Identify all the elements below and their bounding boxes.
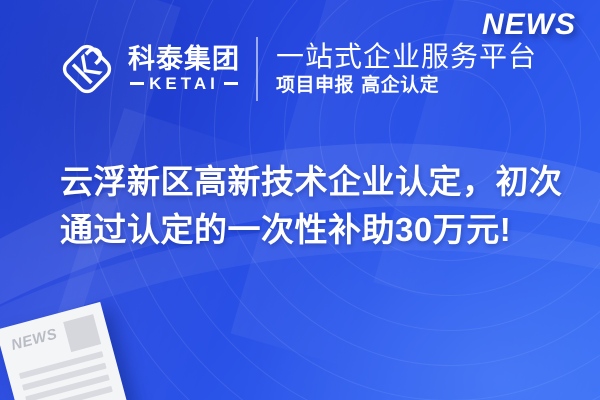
news-wordmark: NEWS: [482, 8, 576, 42]
brand-name-en-row: KETAI: [128, 75, 240, 92]
brand-rule-left: [130, 82, 144, 85]
newspaper-graphic: NEWS: [0, 302, 128, 400]
brand-lockup: 科泰集团 KETAI: [58, 40, 240, 98]
brand-name-cn: 科泰集团: [128, 46, 240, 73]
brand-rule-right: [224, 82, 238, 85]
brand-text-block: 科泰集团 KETAI: [128, 46, 240, 92]
tagline-block: 一站式企业服务平台 项目申报 高企认定: [276, 41, 537, 97]
newspaper-masthead: NEWS: [9, 324, 59, 353]
newspaper-sheet: NEWS: [0, 302, 128, 400]
brand-name-en: KETAI: [149, 75, 219, 92]
tagline-main: 一站式企业服务平台: [276, 41, 537, 72]
image-placeholder-icon: [63, 314, 101, 352]
headline-line-1: 云浮新区高新技术企业认定，初次: [60, 158, 560, 206]
ketai-kd-monogram-icon: [58, 40, 116, 98]
news-banner: 科泰集团 KETAI 一站式企业服务平台 项目申报 高企认定 NEWS 云浮新区…: [0, 0, 600, 400]
headline: 云浮新区高新技术企业认定，初次 通过认定的一次性补助30万元!: [60, 158, 560, 253]
header-divider: [256, 37, 258, 101]
tagline-sub: 项目申报 高企认定: [276, 75, 537, 97]
headline-line-2: 通过认定的一次性补助30万元!: [60, 206, 560, 254]
